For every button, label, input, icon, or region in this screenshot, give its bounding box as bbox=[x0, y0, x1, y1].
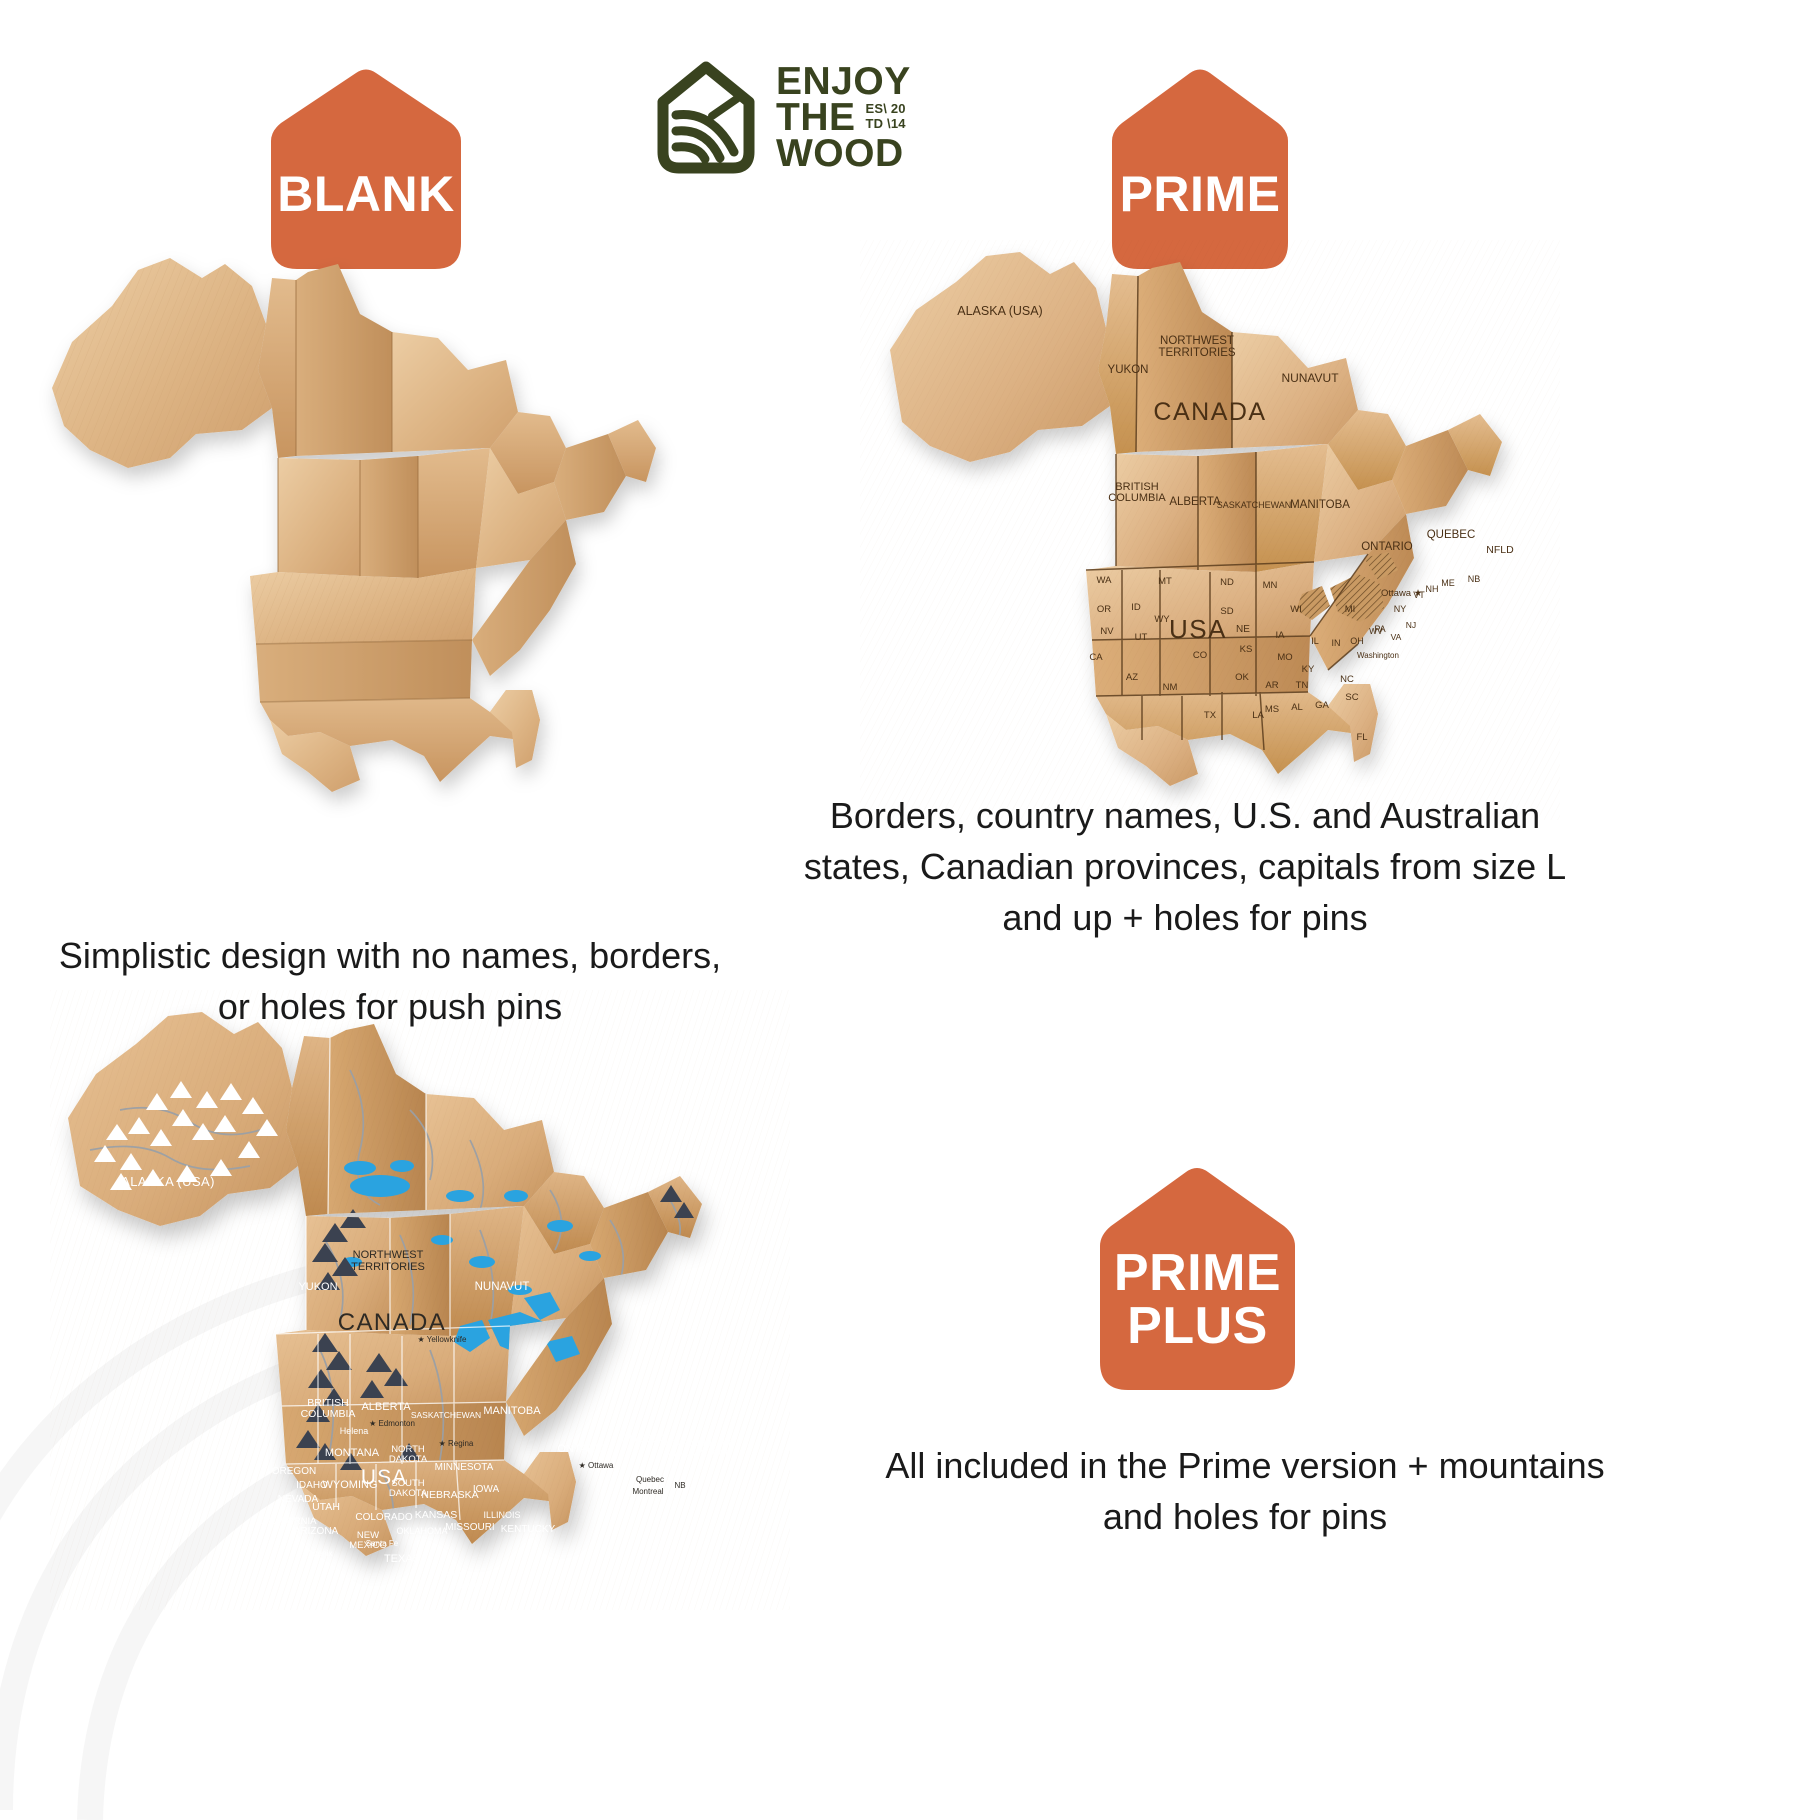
svg-text:KANSAS: KANSAS bbox=[415, 1509, 458, 1521]
svg-text:CO: CO bbox=[1193, 650, 1207, 661]
svg-text:LA: LA bbox=[1252, 710, 1264, 721]
svg-text:GA: GA bbox=[1315, 700, 1329, 711]
svg-text:AND LABRADOR: AND LABRADOR bbox=[664, 1448, 731, 1458]
svg-text:TEXAS: TEXAS bbox=[384, 1553, 420, 1565]
svg-text:OR: OR bbox=[1097, 604, 1111, 615]
map-prime-plus-figure: ALASKA (USA) YUKON NUNAVUT BRITISH COLUM… bbox=[50, 990, 790, 1610]
svg-text:Houston: Houston bbox=[453, 1581, 483, 1590]
svg-text:KENTUCKY: KENTUCKY bbox=[501, 1524, 556, 1535]
svg-text:CA: CA bbox=[1089, 652, 1103, 663]
svg-text:NC: NC bbox=[1340, 674, 1354, 685]
svg-text:MN: MN bbox=[1263, 580, 1278, 591]
svg-text:OKLAHOMA: OKLAHOMA bbox=[396, 1526, 447, 1536]
brand-logo: ENJOY THE ES\ 20 TD \14 WOOD bbox=[650, 48, 1150, 188]
svg-text:NV: NV bbox=[1100, 626, 1114, 637]
svg-text:MANITOBA: MANITOBA bbox=[483, 1405, 541, 1417]
svg-text:AR: AR bbox=[1265, 680, 1278, 691]
svg-text:NUNAVUT: NUNAVUT bbox=[475, 1281, 530, 1293]
svg-text:NORTHWEST: NORTHWEST bbox=[353, 1249, 424, 1261]
svg-text:YUKON: YUKON bbox=[298, 1281, 337, 1293]
svg-text:NY: NY bbox=[1394, 604, 1407, 614]
svg-text:FL: FL bbox=[1356, 732, 1367, 743]
svg-text:KY: KY bbox=[1302, 664, 1315, 675]
badge-prime-plus-label: PRIME PLUS bbox=[1114, 1247, 1281, 1353]
svg-text:QUEBEC: QUEBEC bbox=[1427, 529, 1476, 541]
svg-text:SD: SD bbox=[1220, 606, 1233, 617]
svg-text:ME: ME bbox=[1441, 578, 1455, 588]
svg-text:TX: TX bbox=[1204, 710, 1217, 721]
svg-text:ALBERTA: ALBERTA bbox=[361, 1401, 411, 1413]
badge-prime-label: PRIME bbox=[1120, 169, 1281, 220]
svg-text:NFLD: NFLD bbox=[1486, 544, 1514, 556]
svg-text:WI: WI bbox=[1290, 604, 1302, 615]
svg-text:NH: NH bbox=[1426, 584, 1439, 594]
svg-text:KS: KS bbox=[1240, 644, 1253, 655]
svg-text:AL: AL bbox=[1291, 702, 1303, 713]
svg-text:COLUMBIA: COLUMBIA bbox=[301, 1408, 356, 1420]
caption-blank: Simplistic design with no names, borders… bbox=[40, 930, 740, 1032]
svg-text:NE: NE bbox=[1236, 624, 1250, 635]
svg-text:ALBERTA: ALBERTA bbox=[1169, 496, 1221, 508]
svg-text:★ Regina: ★ Regina bbox=[439, 1439, 474, 1448]
badge-blank-label: BLANK bbox=[277, 169, 454, 220]
svg-text:OK: OK bbox=[1235, 672, 1249, 683]
svg-text:ND: ND bbox=[1220, 577, 1234, 588]
svg-text:Montreal: Montreal bbox=[632, 1487, 663, 1496]
map-prime-figure: ALASKA (USA) YUKON NORTHWEST TERRITORIES… bbox=[860, 240, 1560, 820]
svg-text:NEBRASKA: NEBRASKA bbox=[421, 1489, 478, 1501]
svg-text:WY: WY bbox=[1154, 614, 1170, 625]
svg-text:DAKOTA: DAKOTA bbox=[389, 1454, 428, 1465]
svg-text:Helena: Helena bbox=[340, 1426, 369, 1436]
badge-prime-plus-line-1: PRIME bbox=[1114, 1244, 1281, 1302]
svg-text:OREGON: OREGON bbox=[272, 1466, 316, 1477]
caption-prime-plus: All included in the Prime version + moun… bbox=[880, 1440, 1610, 1542]
svg-text:IN: IN bbox=[1332, 638, 1341, 648]
svg-text:ARIZONA: ARIZONA bbox=[294, 1526, 339, 1537]
svg-text:NEWFOUNDLAND: NEWFOUNDLAND bbox=[662, 1438, 735, 1448]
logo-line-2: THE bbox=[776, 100, 856, 136]
svg-text:NORTHWEST: NORTHWEST bbox=[1160, 335, 1234, 347]
svg-text:CANADA: CANADA bbox=[338, 1309, 446, 1336]
svg-text:MS: MS bbox=[1265, 704, 1279, 715]
svg-text:NB: NB bbox=[1468, 574, 1481, 584]
logo-line-1: ENJOY bbox=[776, 64, 911, 100]
svg-text:MISSOURI: MISSOURI bbox=[445, 1522, 494, 1533]
logo-established: ES\ 20 TD \14 bbox=[866, 102, 906, 136]
svg-text:MANITOBA: MANITOBA bbox=[1290, 499, 1350, 511]
svg-text:COLUMBIA: COLUMBIA bbox=[1108, 492, 1166, 504]
svg-text:Quebec: Quebec bbox=[636, 1475, 664, 1484]
svg-text:Santa Fe: Santa Fe bbox=[366, 1539, 399, 1548]
svg-text:USA: USA bbox=[361, 1466, 407, 1489]
svg-text:TERRITORIES: TERRITORIES bbox=[351, 1261, 425, 1273]
svg-text:Phoenix: Phoenix bbox=[304, 1549, 333, 1558]
svg-text:UT: UT bbox=[1135, 632, 1148, 643]
svg-text:MT: MT bbox=[1158, 576, 1172, 587]
svg-text:SC: SC bbox=[1345, 692, 1358, 703]
svg-text:NM: NM bbox=[1163, 682, 1178, 693]
map-blank-figure bbox=[20, 220, 700, 820]
badge-prime-plus-line-2: PLUS bbox=[1127, 1297, 1268, 1355]
svg-text:OH: OH bbox=[1350, 636, 1364, 646]
svg-text:TERRITORIES: TERRITORIES bbox=[1158, 347, 1235, 359]
svg-text:WA: WA bbox=[1097, 575, 1113, 586]
svg-text:ILLINOIS: ILLINOIS bbox=[483, 1510, 520, 1520]
svg-text:MINNESOTA: MINNESOTA bbox=[435, 1462, 494, 1473]
svg-text:YUKON: YUKON bbox=[1108, 364, 1149, 376]
svg-text:★ Yellowknife: ★ Yellowknife bbox=[418, 1335, 468, 1344]
svg-text:ID: ID bbox=[1131, 602, 1141, 613]
svg-text:NJ: NJ bbox=[1406, 620, 1416, 630]
svg-text:WV: WV bbox=[1369, 626, 1383, 636]
wood-grain-house-icon bbox=[650, 60, 762, 176]
svg-text:NB: NB bbox=[674, 1481, 685, 1490]
svg-text:NUNAVUT: NUNAVUT bbox=[1281, 371, 1339, 385]
svg-text:MO: MO bbox=[1277, 652, 1292, 663]
svg-text:IL: IL bbox=[1311, 636, 1319, 646]
svg-text:ALASKA (USA): ALASKA (USA) bbox=[957, 304, 1042, 318]
svg-text:UTAH: UTAH bbox=[312, 1501, 340, 1513]
svg-text:Ottawa ★: Ottawa ★ bbox=[1381, 588, 1423, 599]
svg-text:Washington: Washington bbox=[1357, 651, 1399, 660]
svg-text:IA: IA bbox=[1276, 630, 1286, 641]
svg-text:TN: TN bbox=[1296, 680, 1309, 691]
svg-text:★ Ottawa: ★ Ottawa bbox=[579, 1461, 614, 1470]
svg-text:IDAHO: IDAHO bbox=[296, 1480, 328, 1491]
caption-prime: Borders, country names, U.S. and Austral… bbox=[790, 790, 1580, 943]
svg-text:SASKATCHEWAN: SASKATCHEWAN bbox=[411, 1410, 481, 1420]
svg-text:SASKATCHEWAN: SASKATCHEWAN bbox=[1217, 500, 1292, 510]
svg-text:QUEBEC: QUEBEC bbox=[621, 1433, 668, 1445]
svg-text:ALASKA (USA): ALASKA (USA) bbox=[121, 1174, 215, 1189]
svg-text:ONTARIO: ONTARIO bbox=[557, 1443, 607, 1455]
logo-line-3: WOOD bbox=[776, 136, 911, 172]
svg-text:AZ: AZ bbox=[1126, 672, 1138, 683]
svg-text:IOWA: IOWA bbox=[473, 1484, 500, 1495]
svg-text:ONTARIO: ONTARIO bbox=[1361, 541, 1413, 553]
svg-text:Austin: Austin bbox=[439, 1569, 461, 1578]
badge-prime-plus: PRIME PLUS bbox=[1090, 1160, 1305, 1400]
svg-text:CANADA: CANADA bbox=[1153, 398, 1266, 426]
svg-text:VA: VA bbox=[1391, 632, 1402, 642]
svg-text:USA: USA bbox=[1169, 614, 1227, 644]
svg-text:★ Edmonton: ★ Edmonton bbox=[369, 1419, 415, 1428]
svg-text:MONTANA: MONTANA bbox=[325, 1447, 380, 1459]
svg-text:MI: MI bbox=[1345, 604, 1356, 615]
svg-text:COLORADO: COLORADO bbox=[355, 1512, 412, 1523]
